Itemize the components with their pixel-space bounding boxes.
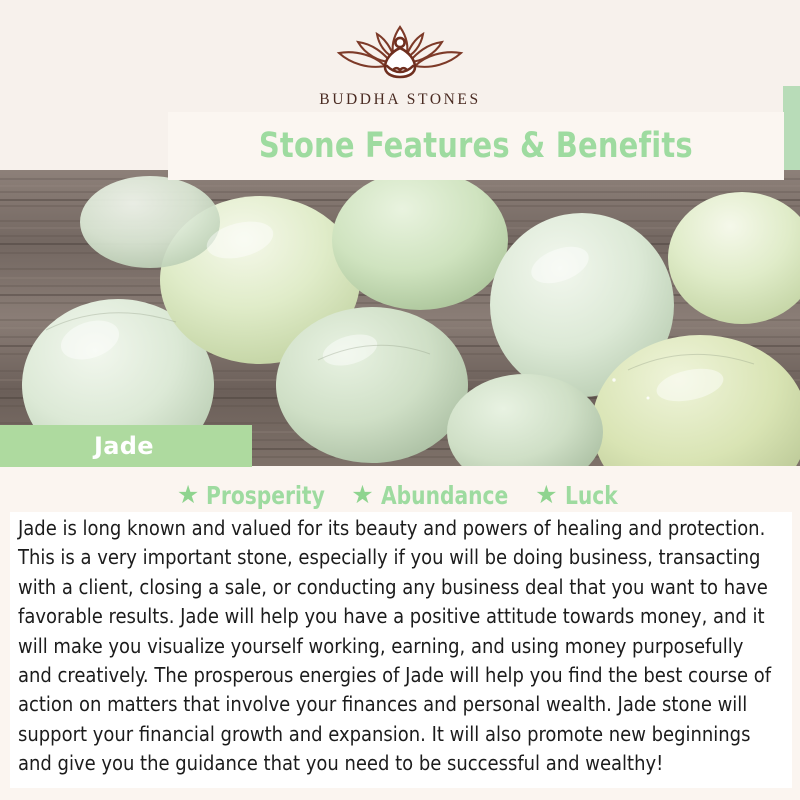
benefit-label: Abundance [381, 481, 508, 510]
page-title: Stone Features & Benefits [259, 126, 693, 166]
lotus-meditation-icon [325, 22, 475, 84]
infographic-page: BUDDHA STONES [0, 0, 800, 800]
jade-stones-photo [0, 170, 800, 466]
description-text: Jade is long known and valued for its be… [18, 514, 776, 779]
benefit-item-abundance: ★ Abundance [351, 481, 522, 510]
brand-name: BUDDHA STONES [319, 91, 480, 109]
content-panel: ★ Prosperity ★ Abundance ★ Luck Jade is … [0, 466, 800, 800]
benefits-list: ★ Prosperity ★ Abundance ★ Luck [0, 478, 800, 512]
star-icon: ★ [535, 483, 557, 508]
description-panel: Jade is long known and valued for its be… [10, 512, 792, 788]
benefit-item-prosperity: ★ Prosperity [177, 481, 338, 510]
stone-name-badge: Jade [0, 425, 252, 467]
star-icon: ★ [351, 483, 373, 508]
benefit-label: Luck [565, 481, 618, 510]
benefit-item-luck: ★ Luck [535, 481, 623, 510]
benefit-label: Prosperity [206, 481, 325, 510]
stone-name-label: Jade [94, 432, 154, 460]
header: BUDDHA STONES [0, 0, 800, 120]
brand-logo: BUDDHA STONES [0, 22, 800, 109]
title-banner: Stone Features & Benefits [168, 112, 784, 180]
star-icon: ★ [177, 483, 199, 508]
